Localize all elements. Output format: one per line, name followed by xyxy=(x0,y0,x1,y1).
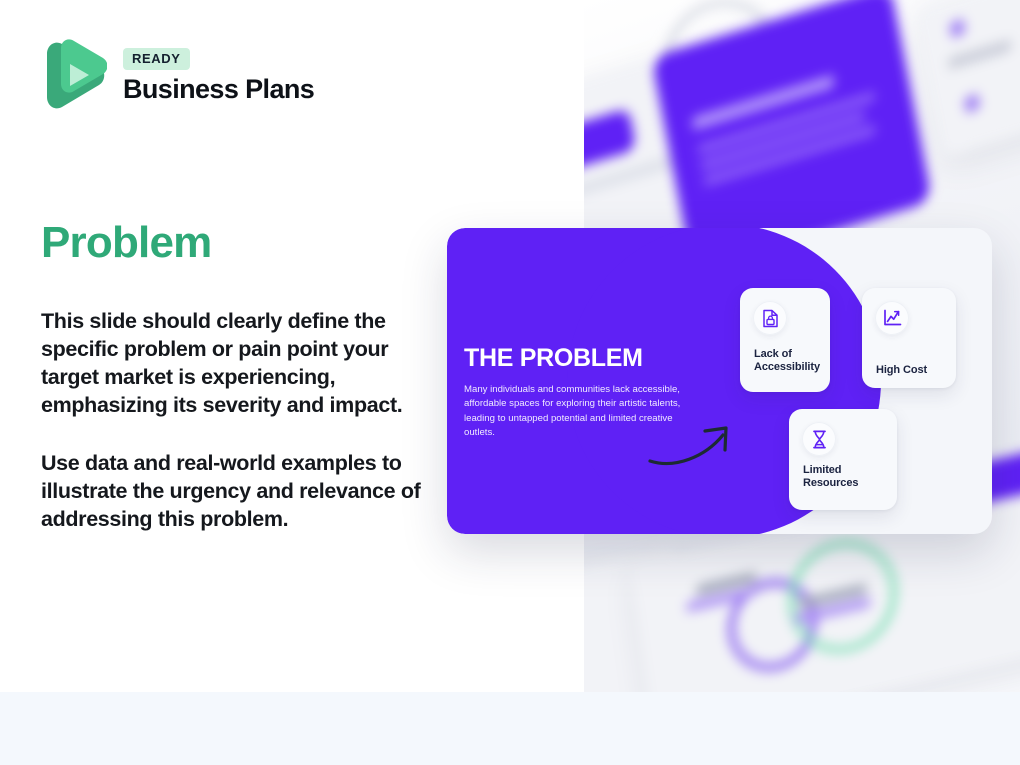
brand-logo: READY Business Plans xyxy=(41,38,314,114)
brand-name: Business Plans xyxy=(123,74,314,105)
ready-badge: READY xyxy=(123,48,190,70)
hourglass-icon xyxy=(802,422,836,456)
body-copy: This slide should clearly define the spe… xyxy=(41,307,421,533)
bottom-strip xyxy=(0,692,1020,765)
line-chart-icon xyxy=(875,301,909,335)
tile-label-limited-resources: Limited Resources xyxy=(803,464,869,491)
tile-label-accessibility: Lack of Accessibility xyxy=(754,348,826,375)
play-triangle-logo-icon xyxy=(41,38,107,114)
tile-label-high-cost: High Cost xyxy=(876,364,952,377)
page-title: Problem xyxy=(41,218,211,268)
body-paragraph-2: Use data and real-world examples to illu… xyxy=(41,449,421,533)
mockup-card xyxy=(915,0,1020,158)
problem-title: THE PROBLEM xyxy=(464,346,686,371)
tile-limited-resources[interactable] xyxy=(789,409,897,510)
tile-lack-of-accessibility[interactable] xyxy=(740,288,830,392)
body-paragraph-1: This slide should clearly define the spe… xyxy=(41,307,421,420)
brand-logo-text: READY Business Plans xyxy=(123,48,314,105)
curved-arrow-icon xyxy=(647,413,747,473)
slide-page: READY Business Plans Problem This slide … xyxy=(0,0,1020,765)
document-lock-icon xyxy=(753,301,787,335)
